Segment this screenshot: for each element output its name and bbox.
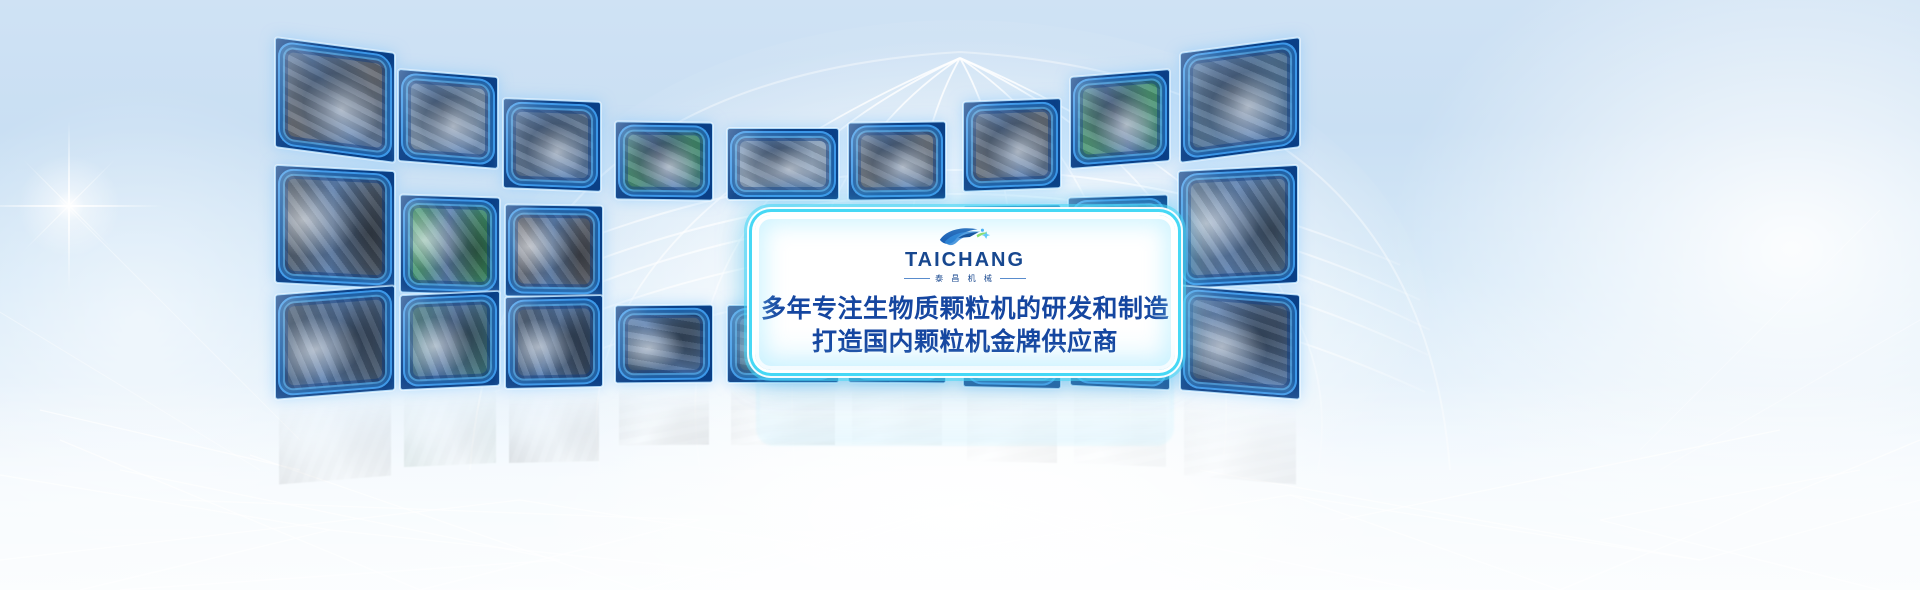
photo-tile[interactable] xyxy=(1180,37,1300,163)
photo-tile[interactable] xyxy=(1180,285,1300,399)
tile-reflection xyxy=(1070,386,1170,472)
logo-subtitle: 泰 昌 机 械 xyxy=(935,273,995,284)
photo-tile[interactable] xyxy=(275,285,395,399)
tile-reflection xyxy=(615,383,713,450)
tile-reflection-photo xyxy=(509,391,599,463)
tile-photo xyxy=(622,312,706,377)
slogan-block: 多年专注生物质颗粒机的研发和制造 打造国内颗粒机金牌供应商 xyxy=(761,293,1169,358)
tile-photo xyxy=(510,105,594,184)
logo-rule-left xyxy=(904,278,930,279)
tile-photo xyxy=(1185,172,1291,282)
tile-reflection xyxy=(727,383,839,449)
tile-photo xyxy=(405,77,491,162)
photo-tile[interactable] xyxy=(727,128,839,200)
tile-reflection xyxy=(275,390,395,488)
photo-tile[interactable] xyxy=(963,98,1061,192)
tile-photo xyxy=(407,298,493,383)
tile-photo xyxy=(282,172,388,282)
taichang-eagle-swoosh-icon xyxy=(936,225,994,249)
tile-reflection xyxy=(963,387,1061,467)
tile-reflection-photo xyxy=(731,387,835,445)
tile-photo xyxy=(407,202,493,289)
tile-photo xyxy=(855,128,939,193)
tile-photo xyxy=(622,128,706,193)
tile-photo xyxy=(1187,45,1293,155)
tile-reflection-photo xyxy=(404,390,496,467)
lens-flare-star xyxy=(68,205,69,206)
tile-reflection-photo xyxy=(967,391,1057,463)
photo-tile[interactable] xyxy=(398,69,498,169)
company-logo: TAICHANG 泰 昌 机 械 xyxy=(904,225,1026,284)
promotional-banner: TAICHANG 泰 昌 机 械 多年专注生物质颗粒机的研发和制造 打造国内颗粒… xyxy=(0,0,1920,590)
tile-photo xyxy=(1187,293,1293,392)
photo-tile[interactable] xyxy=(1070,69,1170,169)
photo-tile[interactable] xyxy=(275,165,395,289)
tile-photo xyxy=(1077,77,1163,162)
photo-tile[interactable] xyxy=(505,204,603,297)
tile-reflection xyxy=(400,386,500,472)
message-panel: TAICHANG 泰 昌 机 械 多年专注生物质颗粒机的研发和制造 打造国内颗粒… xyxy=(755,215,1175,370)
photo-tile[interactable] xyxy=(400,194,500,295)
tile-photo xyxy=(282,45,388,155)
tile-reflection xyxy=(848,383,946,450)
tile-photo xyxy=(512,211,596,290)
tile-reflection-photo xyxy=(1184,395,1296,485)
floor-spotlight xyxy=(510,410,1410,590)
slogan-line-2: 打造国内颗粒机金牌供应商 xyxy=(761,326,1169,359)
tile-reflection-photo xyxy=(852,387,942,446)
slogan-line-1: 多年专注生物质颗粒机的研发和制造 xyxy=(761,293,1169,326)
photo-tile[interactable] xyxy=(615,121,713,200)
tile-photo xyxy=(512,302,596,382)
logo-rule-right xyxy=(1000,278,1026,279)
floor-gradient xyxy=(0,380,1920,590)
tile-reflection-photo xyxy=(1074,390,1166,467)
tile-reflection xyxy=(1180,390,1300,488)
tile-photo xyxy=(734,135,832,193)
tile-reflection xyxy=(505,387,603,467)
tile-photo xyxy=(970,105,1054,184)
tile-reflection-photo xyxy=(619,387,709,446)
photo-tile[interactable] xyxy=(400,291,500,391)
tile-photo xyxy=(282,293,388,392)
photo-tile[interactable] xyxy=(848,121,946,200)
photo-tile[interactable] xyxy=(275,37,395,163)
photo-tile[interactable] xyxy=(615,305,713,384)
photo-tile[interactable] xyxy=(505,295,603,389)
logo-subtitle-row: 泰 昌 机 械 xyxy=(904,273,1026,284)
photo-tile[interactable] xyxy=(1178,165,1298,289)
right-glow xyxy=(1360,0,1920,590)
logo-wordmark: TAICHANG xyxy=(905,250,1025,270)
photo-tile[interactable] xyxy=(503,98,601,192)
tile-reflection-photo xyxy=(279,395,391,485)
